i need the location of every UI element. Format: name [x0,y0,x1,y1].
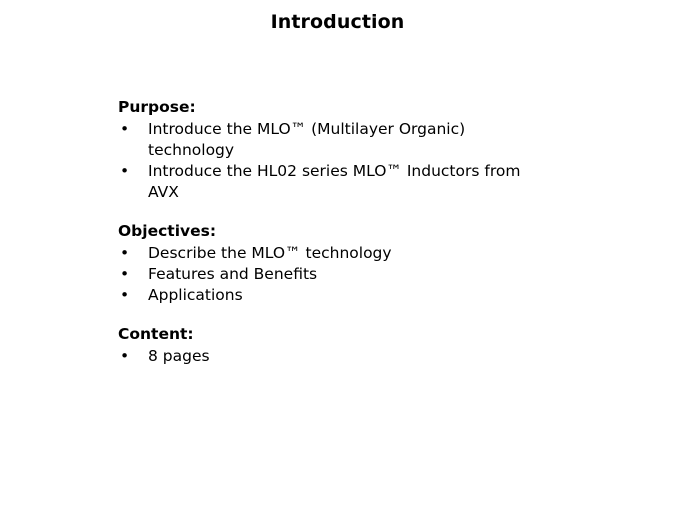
list-item-label: Introduce the HL02 series MLO™ Inductors… [148,161,548,203]
list-item: • Applications [118,285,548,306]
section-purpose: Purpose: • Introduce the MLO™ (Multilaye… [118,97,548,203]
bullet-icon: • [120,346,129,367]
list-item: • Describe the MLO™ technology [118,243,548,264]
bullet-icon: • [120,119,129,140]
bullet-icon: • [120,161,129,182]
slide-body: Purpose: • Introduce the MLO™ (Multilaye… [118,97,548,367]
section-heading-content: Content: [118,324,548,345]
list-item: • Features and Benefits [118,264,548,285]
bullet-icon: • [120,285,129,306]
list-item: • 8 pages [118,346,548,367]
section-objectives: Objectives: • Describe the MLO™ technolo… [118,221,548,306]
slide-canvas: Introduction Purpose: • Introduce the ML… [0,0,675,506]
bullet-list-purpose: • Introduce the MLO™ (Multilayer Organic… [118,119,548,203]
list-item-label: Describe the MLO™ technology [148,243,548,264]
bullet-list-content: • 8 pages [118,346,548,367]
list-item: • Introduce the HL02 series MLO™ Inducto… [118,161,548,203]
section-heading-objectives: Objectives: [118,221,548,242]
page-title: Introduction [0,10,675,34]
bullet-list-objectives: • Describe the MLO™ technology • Feature… [118,243,548,306]
bullet-icon: • [120,264,129,285]
list-item: • Introduce the MLO™ (Multilayer Organic… [118,119,548,161]
list-item-label: 8 pages [148,346,548,367]
section-content: Content: • 8 pages [118,324,548,367]
list-item-label: Introduce the MLO™ (Multilayer Organic) … [148,119,548,161]
section-heading-purpose: Purpose: [118,97,548,118]
bullet-icon: • [120,243,129,264]
list-item-label: Features and Benefits [148,264,548,285]
list-item-label: Applications [148,285,548,306]
